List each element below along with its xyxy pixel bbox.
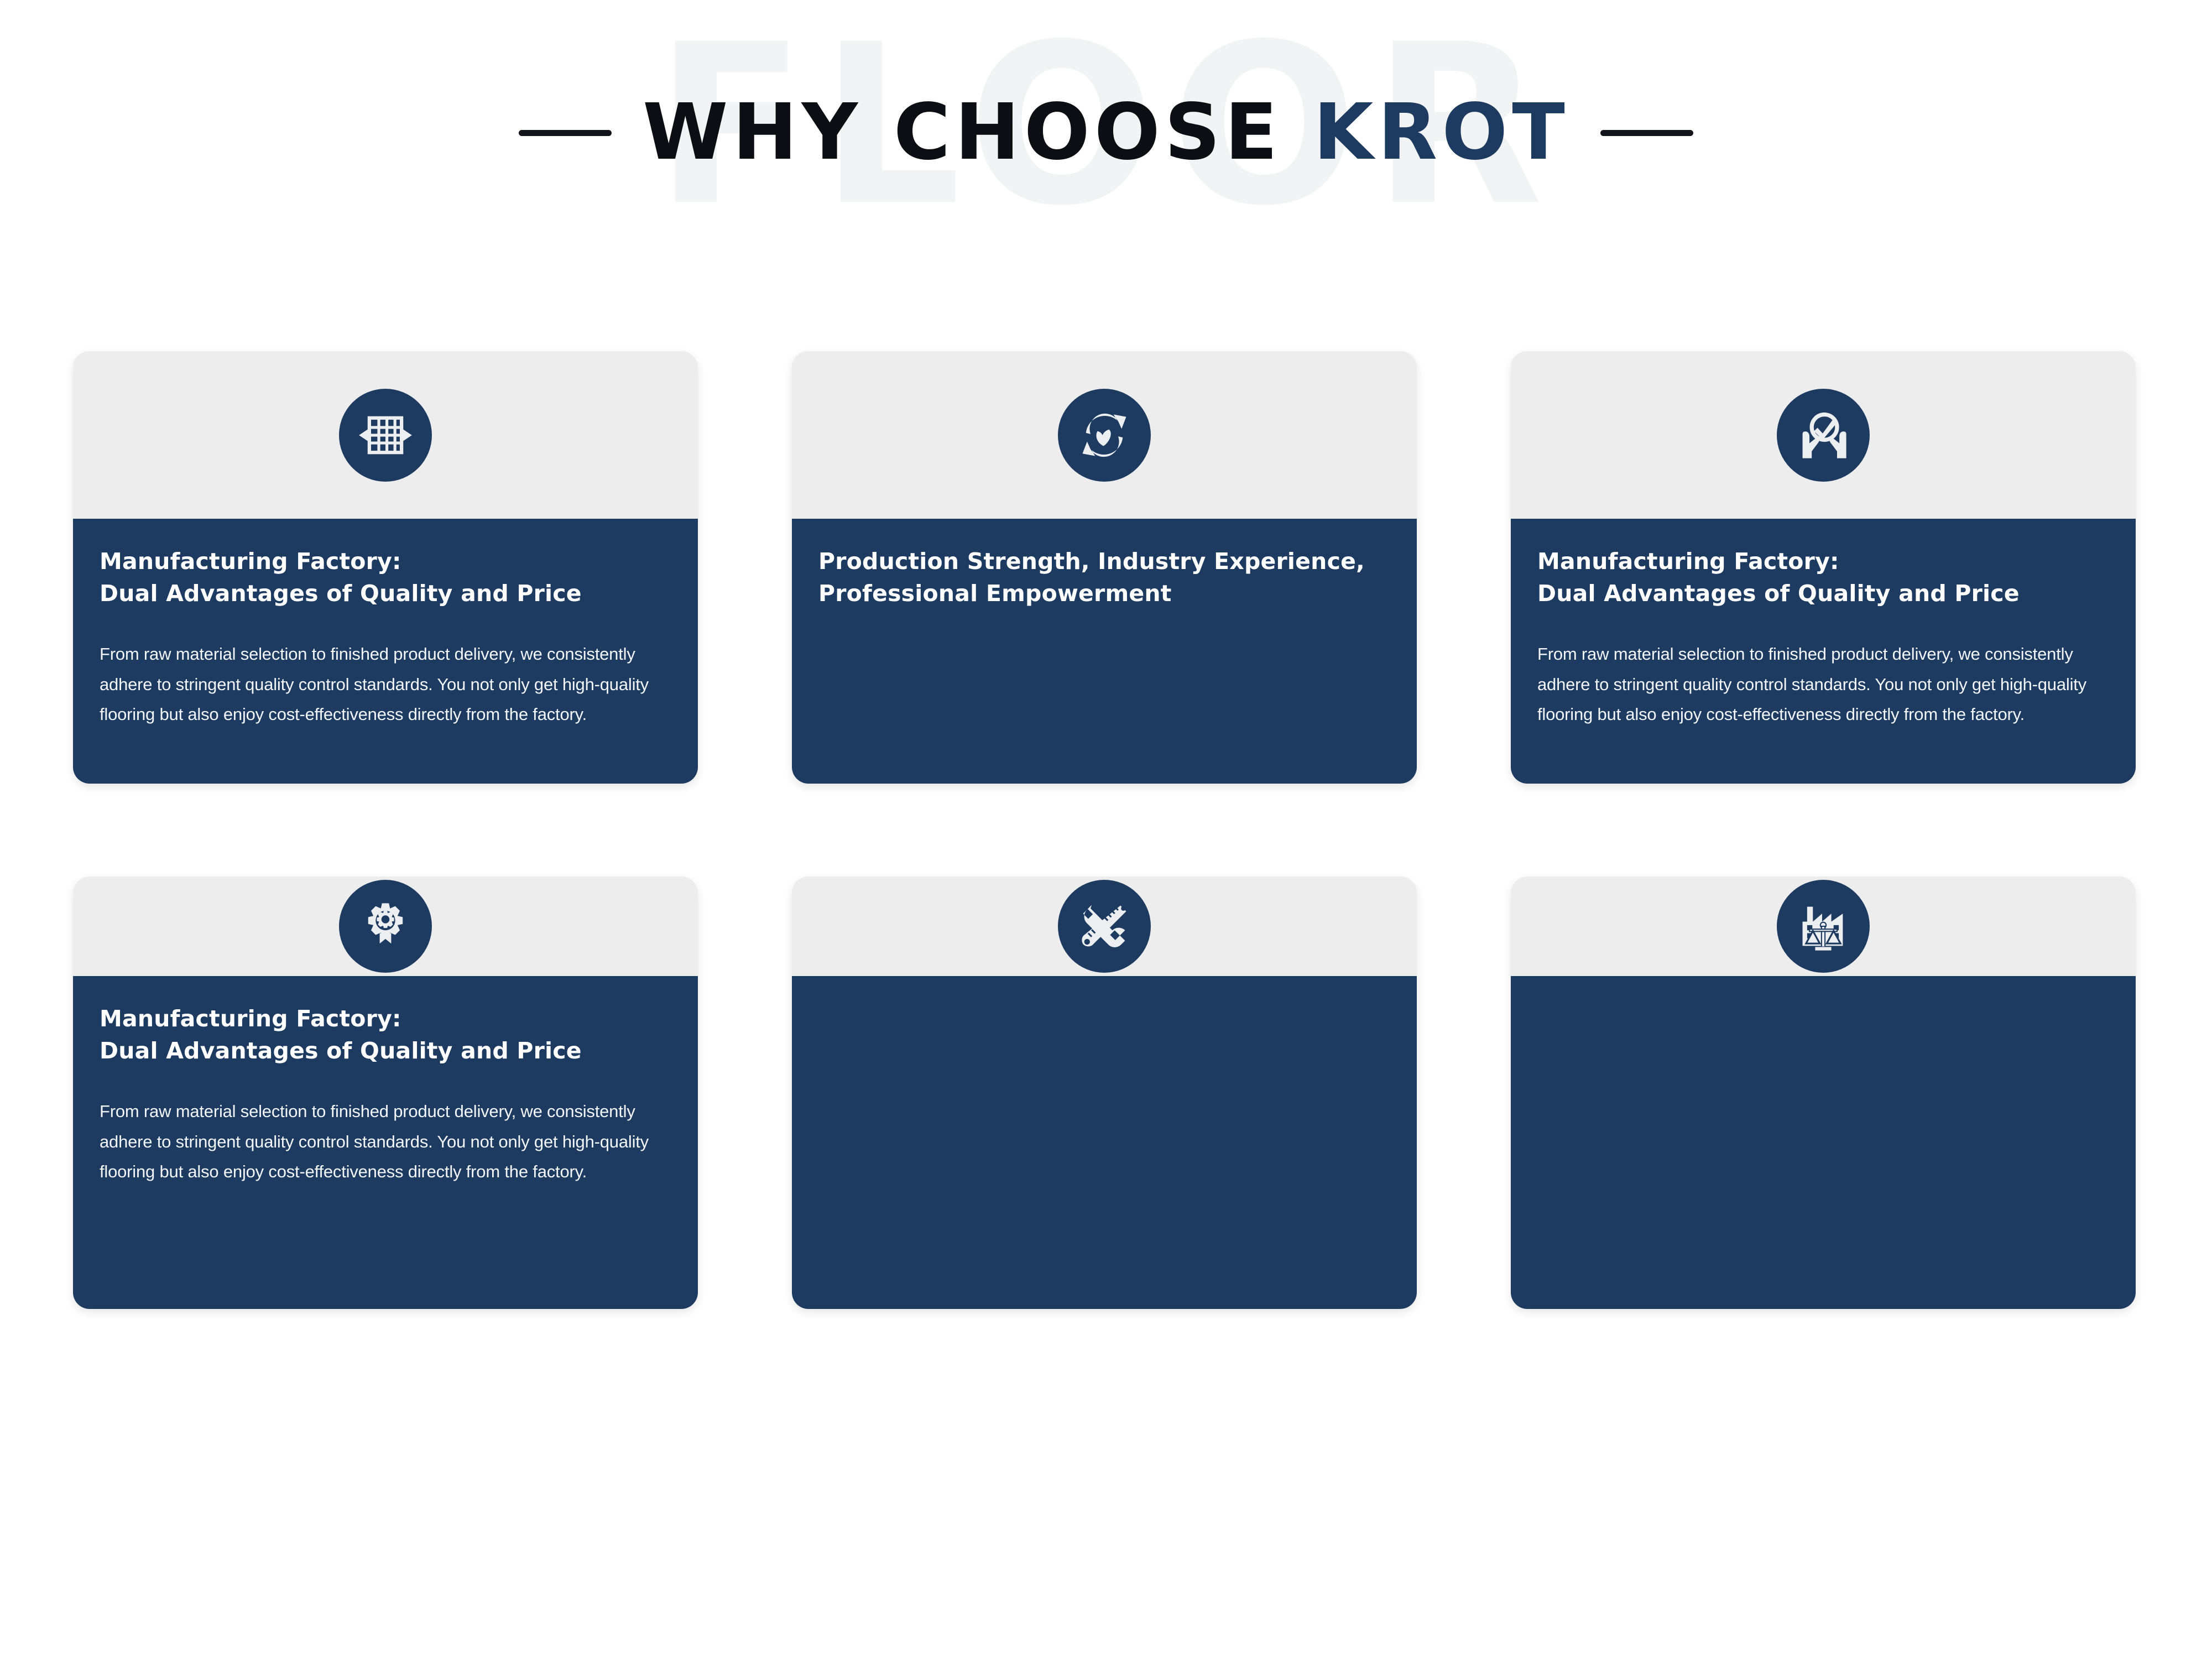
card-icon-area (1511, 877, 2136, 976)
card-body: Manufacturing Factory: Dual Advantages o… (73, 519, 698, 784)
card-icon-area (1511, 351, 2136, 519)
page-header: FLOOR WHY CHOOSE KROT (0, 0, 2212, 310)
card-icon-area (73, 351, 698, 519)
card-body (792, 976, 1417, 1309)
page-title-accent: KROT (1313, 87, 1569, 178)
wrench-ruler-icon (1058, 880, 1151, 973)
recycle-leaf-icon (1058, 389, 1151, 482)
title-dash-right-icon (1600, 130, 1693, 136)
feature-card[interactable] (792, 877, 1417, 1309)
card-icon-area (792, 877, 1417, 976)
page-title-row: WHY CHOOSE KROT (0, 94, 2212, 171)
grid-width-arrows-icon (339, 389, 432, 482)
hands-check-icon (1777, 389, 1870, 482)
card-body: Manufacturing Factory: Dual Advantages o… (73, 976, 698, 1309)
card-body (1511, 976, 2136, 1309)
card-icon-area (73, 877, 698, 976)
card-body: Production Strength, Industry Experience… (792, 519, 1417, 784)
card-title: Manufacturing Factory: Dual Advantages o… (100, 545, 671, 609)
card-title: Manufacturing Factory: Dual Advantages o… (1537, 545, 2109, 609)
card-body: Manufacturing Factory: Dual Advantages o… (1511, 519, 2136, 784)
page-title: WHY CHOOSE KROT (643, 94, 1569, 171)
gear-award-ribbon-icon (339, 880, 432, 973)
feature-card[interactable] (1511, 877, 2136, 1309)
card-description: From raw material selection to finished … (1537, 639, 2109, 729)
card-title: Manufacturing Factory: Dual Advantages o… (100, 1003, 671, 1067)
feature-card[interactable]: Manufacturing Factory: Dual Advantages o… (73, 877, 698, 1309)
factory-scales-icon (1777, 880, 1870, 973)
card-icon-area (792, 351, 1417, 519)
card-title: Production Strength, Industry Experience… (818, 545, 1390, 609)
feature-card[interactable]: Manufacturing Factory: Dual Advantages o… (1511, 351, 2136, 784)
title-dash-left-icon (519, 130, 612, 136)
feature-card[interactable]: Production Strength, Industry Experience… (792, 351, 1417, 784)
card-description: From raw material selection to finished … (100, 1097, 671, 1187)
feature-card-grid: Manufacturing Factory: Dual Advantages o… (73, 351, 2136, 1309)
page-title-main: WHY CHOOSE (643, 87, 1313, 178)
page-root: FLOOR WHY CHOOSE KROT (0, 0, 2212, 1659)
card-description: From raw material selection to finished … (100, 639, 671, 729)
feature-card[interactable]: Manufacturing Factory: Dual Advantages o… (73, 351, 698, 784)
